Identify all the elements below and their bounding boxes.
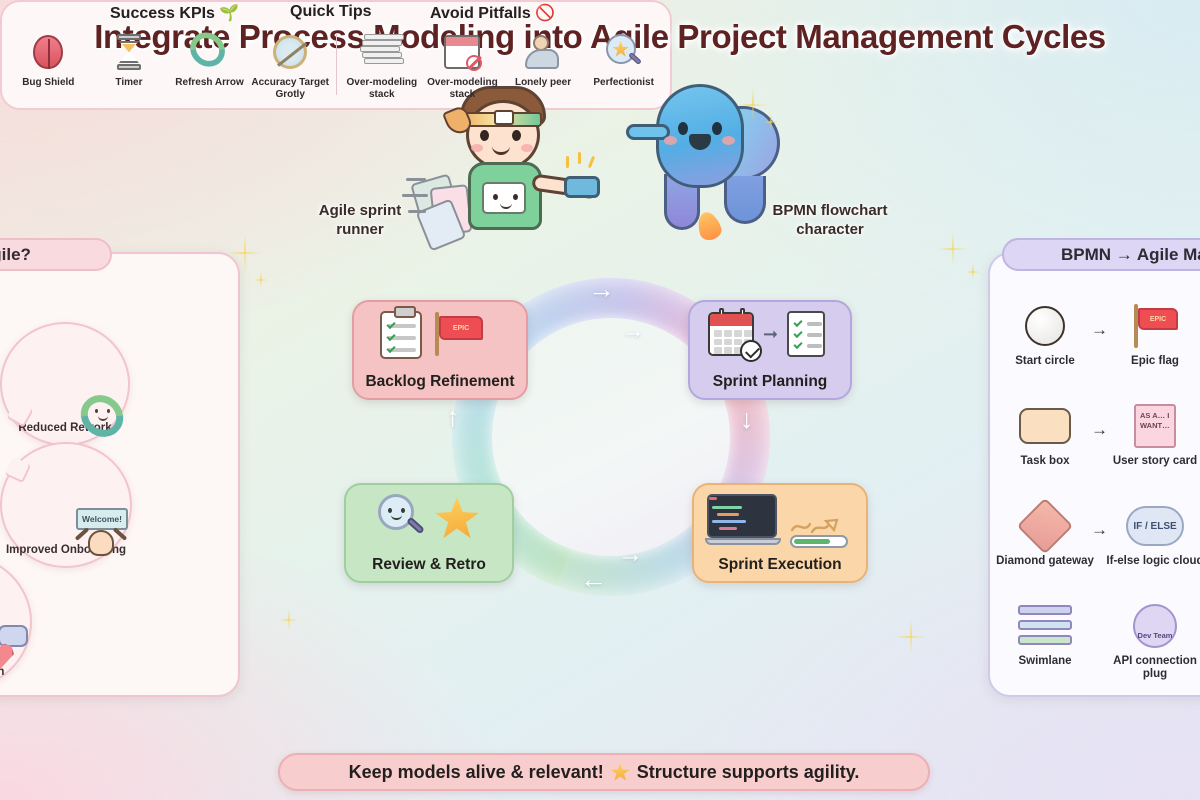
mapping-label: Swimlane	[1018, 655, 1071, 668]
benefit-bubble-reduced-rework[interactable]: Reduced Rework	[0, 322, 130, 446]
bp-item-refresh-arrow[interactable]: Refresh Arrow	[169, 29, 250, 89]
bp-item-label: Accuracy Target Grotly	[250, 77, 331, 100]
tips-kpis-pitfalls-panel: Success KPIs 🌱 Quick Tips Avoid Pitfalls…	[0, 0, 672, 110]
sparkle-icon	[280, 610, 298, 630]
node-label: Review & Retro	[372, 556, 486, 574]
mapping-item-user-story-card[interactable]: AS A… I WANT… User story card	[1100, 394, 1200, 494]
mapping-item-swimlane[interactable]: Swimlane	[990, 594, 1100, 694]
sparkle-icon	[254, 272, 268, 288]
banner-text-right: Structure supports agility.	[637, 762, 860, 783]
footer-banner: Keep models alive & relevant! Structure …	[278, 753, 930, 791]
bp-item-timer[interactable]: Timer	[89, 29, 170, 89]
right-panel-header: BPMN → Agile Mapping	[1002, 238, 1200, 271]
cycle-inner-arrow-top: →	[620, 316, 645, 345]
heading-avoid-pitfalls: Avoid Pitfalls 🚫	[430, 3, 555, 23]
node-label: Sprint Planning	[713, 373, 828, 391]
bp-item-label: Bug Shield	[22, 77, 74, 89]
checklist-clipboard-icon	[380, 311, 422, 359]
hourglass-icon	[116, 34, 142, 70]
heading-success-kpis: Success KPIs 🌱	[110, 3, 239, 23]
mapping-item-start-circle[interactable]: Start circle →	[990, 294, 1100, 394]
cycle-arrow-left: ↑	[446, 402, 460, 433]
cycle-node-sprint-execution[interactable]: Sprint Execution	[692, 483, 868, 583]
epic-flag-icon: EPIC	[431, 312, 485, 358]
cycle-node-sprint-planning[interactable]: ➞ Sprint Planning	[688, 300, 852, 400]
bp-item-lonely-peer[interactable]: Lonely peer	[503, 29, 584, 89]
mapping-label: User story card	[1113, 455, 1197, 468]
mapping-label: Start circle	[1015, 355, 1074, 368]
sparkle-icon	[966, 264, 980, 280]
welcome-sign-text: Welcome!	[76, 508, 128, 530]
magnifier-star-icon	[606, 34, 642, 70]
epic-flag-icon: EPIC	[1130, 304, 1180, 348]
mapping-grid: Start circle → EPIC Epic flag End circle…	[990, 294, 1200, 694]
bp-item-label: Timer	[115, 77, 142, 89]
checklist-icon	[787, 311, 825, 357]
gold-star-icon	[611, 763, 630, 781]
hero-label-runner: Agile sprint runner	[300, 202, 420, 240]
bp-item-label: Over-modeling stack	[422, 77, 503, 100]
cycle-inner-arrow-bottom: →	[618, 540, 643, 569]
bp-item-accuracy-target[interactable]: Accuracy Target Grotly	[250, 29, 331, 100]
refresh-arrow-icon	[80, 396, 130, 442]
heading-quick-tips: Quick Tips	[290, 3, 372, 21]
why-combine-panel: ombine BPMN + Agile? Enhanced Visibility…	[0, 252, 240, 697]
cycle-arrow-top: →	[588, 274, 615, 305]
diamond-gateway-icon	[1017, 498, 1074, 555]
benefit-bubble-stakeholder-communication[interactable]: Stakeholder Communication	[0, 554, 32, 690]
sparkle-icon	[938, 232, 968, 266]
left-panel-header: ombine BPMN + Agile?	[0, 238, 112, 271]
scribble-icon	[790, 518, 840, 536]
banner-text-left: Keep models alive & relevant!	[349, 762, 604, 783]
mapping-item-epic-flag[interactable]: EPIC Epic flag	[1100, 294, 1200, 394]
bp-item-label: Refresh Arrow	[175, 77, 244, 89]
mapping-item-api-plug[interactable]: Dev Team API connection plug	[1100, 594, 1200, 694]
bp-item-label: Lonely peer	[515, 77, 571, 89]
start-circle-icon	[1025, 306, 1065, 346]
bp-item-over-modeling-stack[interactable]: Over-modeling stack	[341, 29, 422, 100]
laptop-code-icon	[705, 494, 781, 548]
check-circle-icon	[740, 340, 762, 362]
cycle-node-review-retro[interactable]: Review & Retro	[344, 483, 514, 583]
cycle-arrow-bottom: ←	[580, 564, 607, 595]
refresh-arrow-icon	[189, 33, 230, 71]
logic-cloud-icon: IF / ELSE	[1126, 506, 1184, 546]
benefit-bubble-improved-onboarding[interactable]: Welcome! Improved Onboarding	[0, 442, 132, 568]
cycle-node-backlog-refinement[interactable]: EPIC Backlog Refinement	[352, 300, 528, 400]
user-story-card-icon: AS A… I WANT…	[1134, 404, 1176, 448]
mapping-label: API connection plug	[1100, 655, 1200, 681]
mapping-label: Diamond gateway	[996, 555, 1094, 568]
api-plug-icon: Dev Team	[1133, 604, 1177, 648]
welcome-sign-icon: Welcome!	[70, 508, 132, 560]
calendar-blocked-icon	[444, 35, 480, 69]
node-label: Sprint Execution	[718, 556, 841, 574]
cycle-arrow-right: ↓	[740, 404, 754, 435]
divider	[336, 33, 337, 95]
arrow-right-icon: ➞	[763, 324, 778, 345]
bp-item-calendar-blocked[interactable]: Over-modeling stack	[422, 29, 503, 100]
swimlane-icon	[1018, 605, 1072, 647]
task-box-icon	[1019, 408, 1071, 444]
flag-text: EPIC	[1138, 308, 1178, 330]
node-label: Backlog Refinement	[365, 373, 514, 391]
magnifier-smile-icon	[378, 494, 426, 542]
bottom-panel-items: Bug Shield Timer Refresh Arrow Accuracy …	[8, 29, 664, 105]
gold-star-icon	[435, 497, 479, 539]
mapping-item-diamond-gateway[interactable]: Diamond gateway →	[990, 494, 1100, 594]
target-icon	[273, 35, 307, 69]
mapping-item-task-box[interactable]: Task box →	[990, 394, 1100, 494]
bp-item-bug-shield[interactable]: Bug Shield	[8, 29, 89, 89]
bug-icon	[33, 35, 63, 69]
calendar-icon	[708, 312, 754, 356]
progress-bar-icon	[790, 535, 848, 548]
bpmn-agile-mapping-panel: BPMN → Agile Mapping Start circle → EPIC…	[988, 252, 1200, 697]
lonely-person-icon	[523, 35, 563, 69]
mapping-label: Task box	[1021, 455, 1070, 468]
chat-heart-icon	[0, 625, 32, 675]
mapping-item-if-else-cloud[interactable]: IF / ELSE If-else logic cloud	[1100, 494, 1200, 594]
bottom-panel-headings: Success KPIs 🌱 Quick Tips Avoid Pitfalls…	[0, 3, 672, 27]
bp-item-label: Over-modeling stack	[341, 77, 422, 100]
flag-text: EPIC	[439, 316, 483, 340]
handshake-icon	[564, 176, 600, 198]
bp-item-perfectionist[interactable]: Perfectionist	[583, 29, 664, 89]
sparkle-icon	[896, 620, 926, 654]
paper-stack-icon	[360, 34, 404, 70]
mapping-label: If-else logic cloud	[1106, 555, 1200, 568]
mapping-label: Epic flag	[1131, 355, 1179, 368]
bp-item-label: Perfectionist	[593, 77, 654, 89]
